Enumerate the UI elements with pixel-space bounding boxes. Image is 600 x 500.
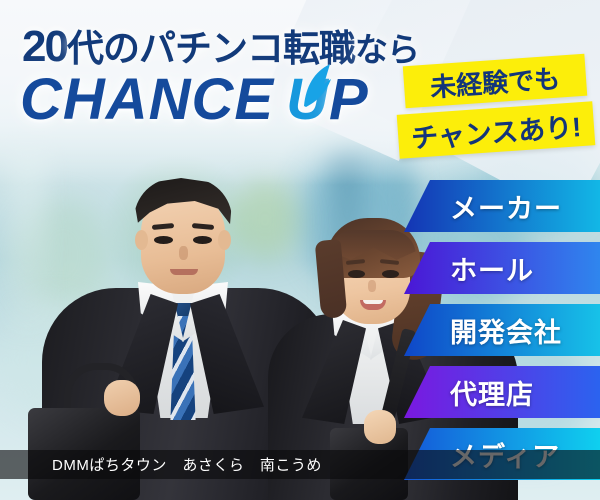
logo-word-chance: CHANCE	[20, 67, 274, 132]
headline-number: 20	[22, 22, 67, 71]
man-eye-right	[193, 236, 212, 244]
catch-badge-line1: 未経験でも	[403, 54, 587, 109]
man-mouth	[170, 269, 198, 275]
logo-letter-p: P	[329, 67, 369, 132]
category-button-hall[interactable]: ホール	[404, 242, 600, 294]
category-button-agency[interactable]: 代理店	[404, 366, 600, 418]
logo-letter-u: U	[286, 67, 329, 132]
man-hand	[104, 380, 140, 416]
catch-badge-line2: チャンスあり!	[397, 101, 596, 159]
category-label-maker: メーカー	[450, 187, 562, 226]
category-button-maker[interactable]: メーカー	[404, 180, 600, 232]
woman-hand	[364, 410, 396, 444]
catch-badge: 未経験でも チャンスあり!	[398, 58, 598, 162]
woman-eye-right	[382, 270, 399, 278]
man-ear-right	[218, 230, 231, 250]
credit-bar: DMMぱちタウン あさくら 南こうめ	[0, 450, 600, 479]
category-label-agency: 代理店	[450, 373, 534, 412]
logo-word-up: UP	[286, 66, 369, 133]
man-eye-left	[154, 236, 173, 244]
woman-nose	[368, 280, 376, 292]
category-label-developer: 開発会社	[450, 311, 562, 350]
category-list: メーカー ホール 開発会社 代理店 メディア	[404, 180, 600, 490]
category-label-hall: ホール	[450, 249, 534, 288]
credit-text: DMMぱちタウン あさくら 南こうめ	[52, 454, 322, 475]
man-ear-left	[135, 230, 148, 250]
category-button-developer[interactable]: 開発会社	[404, 304, 600, 356]
woman-eye-left	[348, 270, 365, 278]
man-nose	[179, 246, 188, 260]
woman-teeth	[363, 300, 383, 304]
advertising-banner[interactable]: 20代のパチンコ転職なら CHANCEUP 未経験でも チャンスあり! メーカー…	[0, 0, 600, 500]
logo-chance-up: CHANCEUP	[20, 66, 369, 133]
headline: 20代のパチンコ転職なら	[22, 18, 419, 72]
headline-middle: 代のパチンコ転職	[67, 28, 355, 69]
